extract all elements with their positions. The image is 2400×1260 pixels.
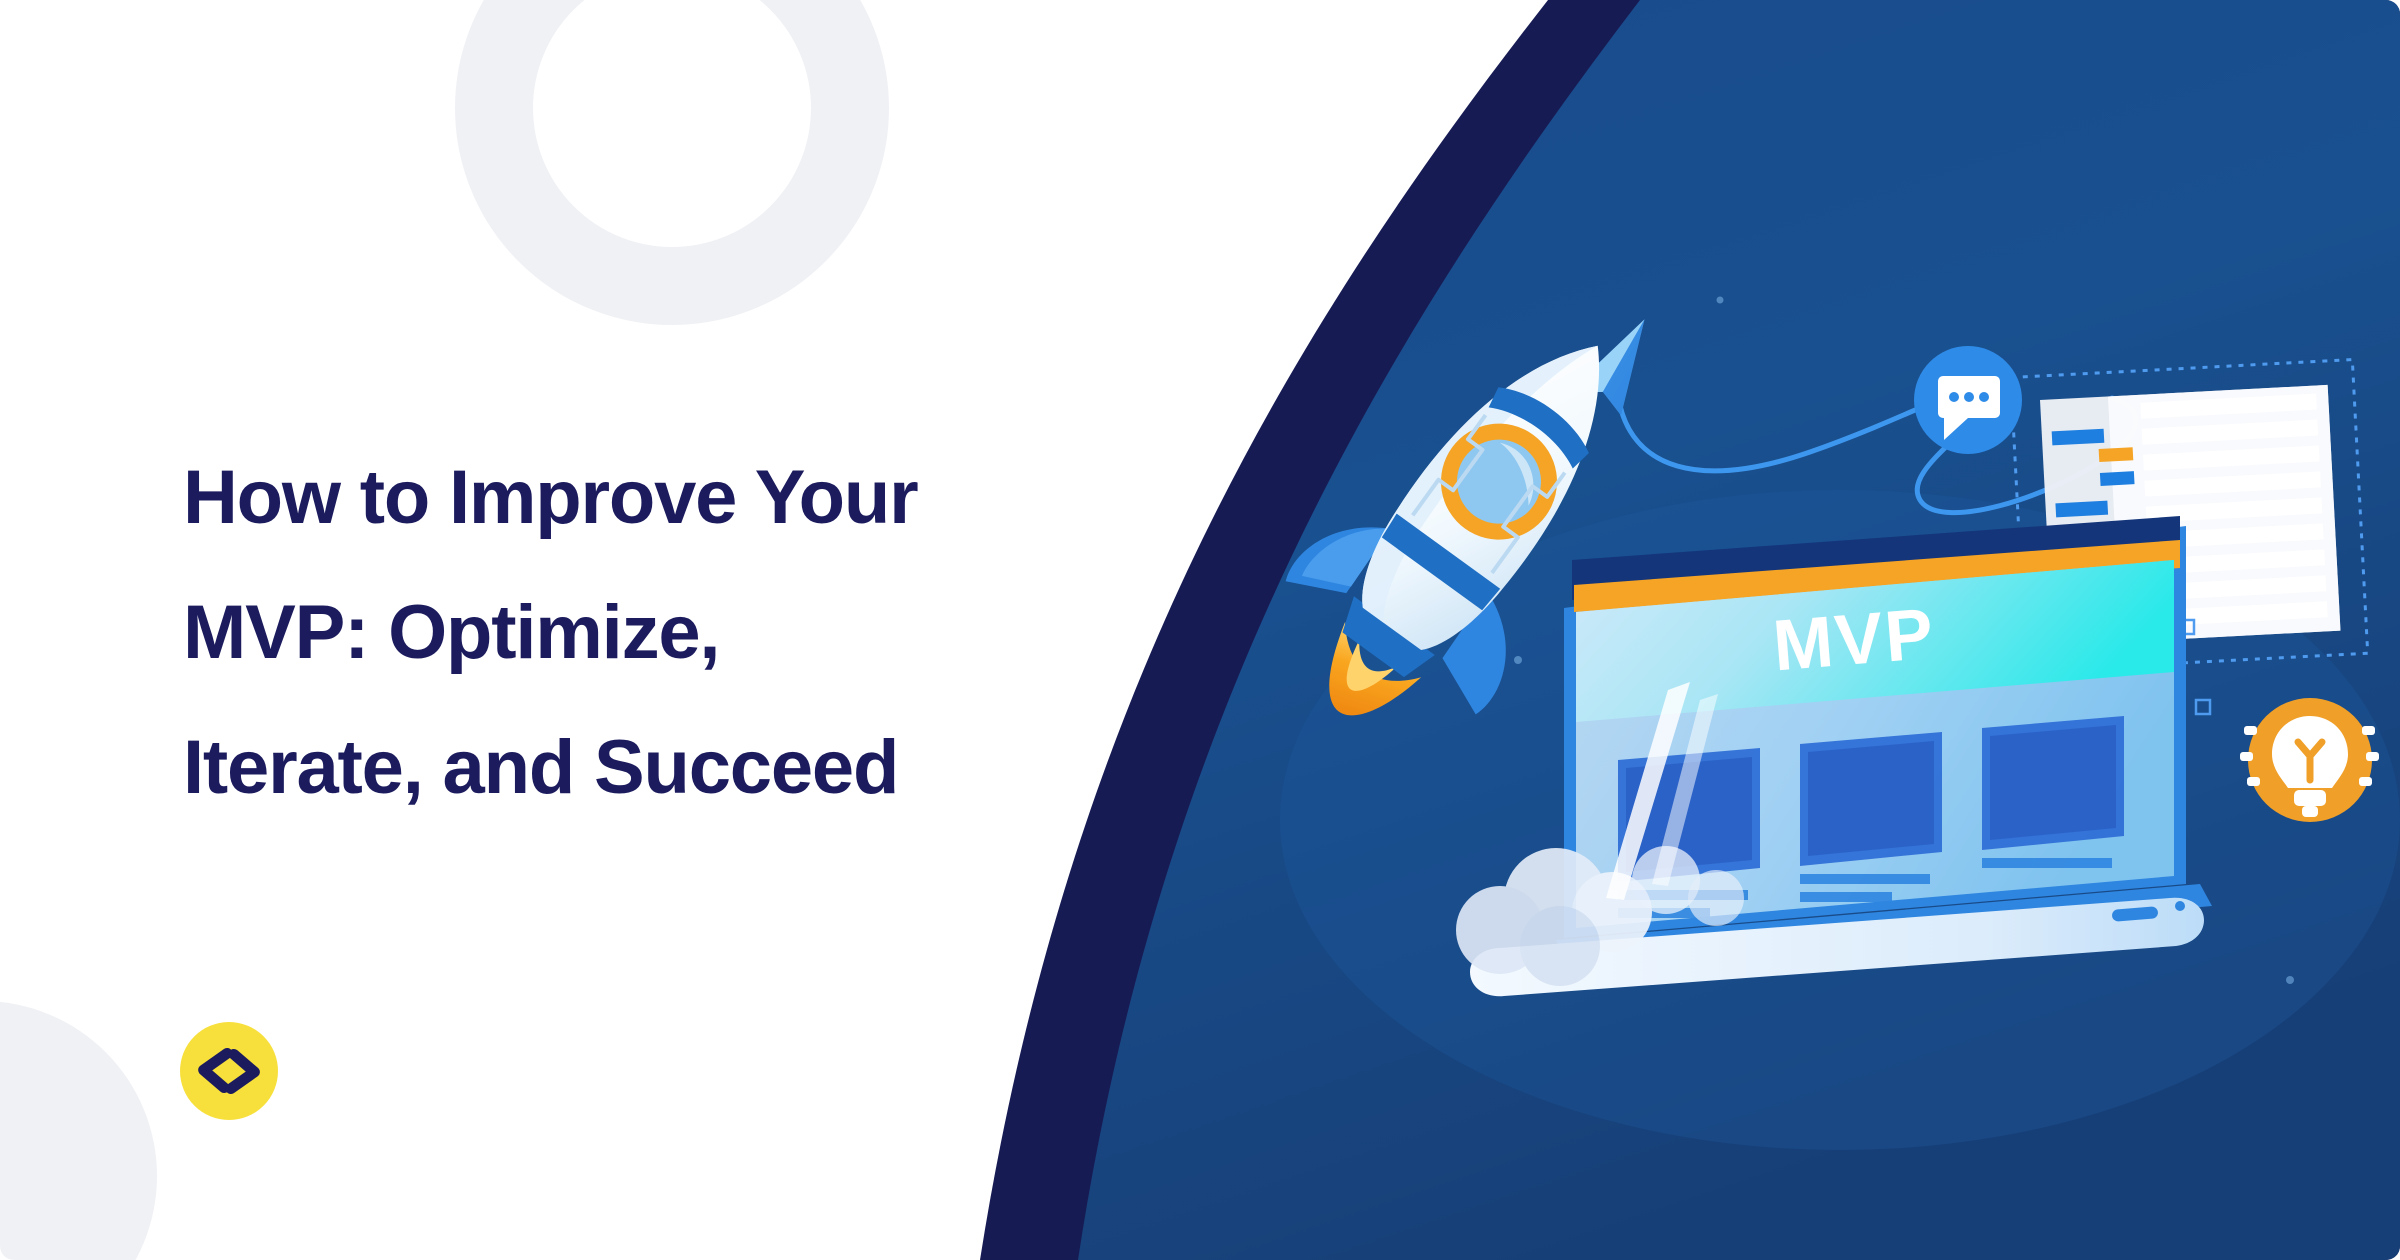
- chat-bubble-icon: [1914, 346, 2022, 454]
- banner-root: MVP: [0, 0, 2400, 1260]
- headline-line-1: How to Improve Your: [183, 430, 1183, 565]
- brand-logo[interactable]: [180, 1022, 278, 1120]
- svg-text:MVP: MVP: [1770, 594, 1938, 687]
- laptop-indicator-dot: [2175, 901, 2185, 911]
- headline-block: How to Improve Your MVP: Optimize, Itera…: [183, 430, 1183, 835]
- headline-line-3: Iterate, and Succeed: [183, 700, 1183, 835]
- headline-line-2: MVP: Optimize,: [183, 565, 1183, 700]
- brand-logo-icon: [180, 1022, 278, 1120]
- screen-mvp-label: MVP: [1770, 594, 1938, 687]
- logo-circle: [180, 1022, 278, 1120]
